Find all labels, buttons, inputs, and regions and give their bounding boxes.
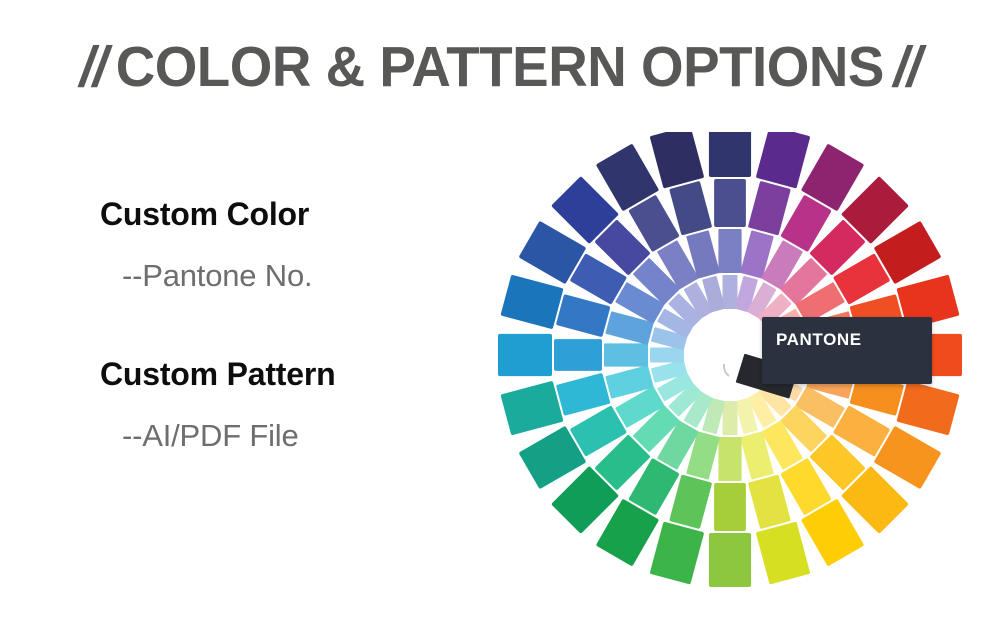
color-swatch [714,483,746,531]
color-swatch [756,132,811,189]
color-swatch [650,348,684,363]
color-swatch [554,339,602,371]
title-lead-slashes: // [80,38,107,98]
promo-banner: //COLOR & PATTERN OPTIONS// Custom Color… [0,0,1000,632]
pantone-card: PANTONE [762,317,932,384]
color-swatch [498,334,552,376]
feature-title-custom-color: Custom Color [100,196,500,234]
color-swatch [748,475,791,530]
color-swatch [650,521,705,584]
feature-custom-pattern: Custom Pattern --AI/PDF File [100,356,500,454]
color-swatch [718,229,741,273]
title-trail-slashes: // [894,38,921,98]
feature-text-column: Custom Color --Pantone No. Custom Patter… [100,196,500,455]
color-swatch [896,381,959,436]
page-title-bar: //COLOR & PATTERN OPTIONS// [0,38,1000,98]
page-title: //COLOR & PATTERN OPTIONS// [80,38,921,98]
feature-custom-color: Custom Color --Pantone No. [100,196,500,294]
color-swatch [500,381,563,436]
color-swatch [604,343,648,366]
color-swatch [723,275,738,309]
color-swatch [714,179,746,227]
feature-sub-pantone-no: --Pantone No. [122,258,500,295]
title-main-text: COLOR & PATTERN OPTIONS [106,38,893,98]
feature-sub-ai-pdf-file: --AI/PDF File [122,418,500,455]
pantone-wordmark: PANTONE [776,330,862,350]
color-swatch [669,475,712,530]
feature-title-custom-pattern: Custom Pattern [100,356,500,394]
color-swatch [709,132,751,177]
color-swatch [748,181,791,236]
color-swatch [500,275,563,330]
color-swatch [650,132,705,189]
color-swatch [756,521,811,584]
color-swatch [556,373,611,416]
color-swatch [718,437,741,481]
color-swatch [723,401,738,435]
color-swatch [709,533,751,587]
color-swatch [669,181,712,236]
color-swatch [556,294,611,337]
